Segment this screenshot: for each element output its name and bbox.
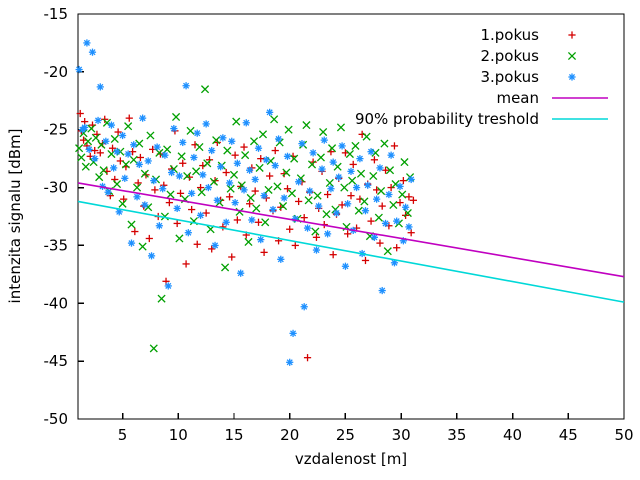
y-tick-label: -40 xyxy=(44,294,69,312)
data-point-cross xyxy=(568,52,575,59)
data-point-cross xyxy=(357,170,364,177)
data-point-plus xyxy=(338,201,345,208)
data-point-asterisk xyxy=(388,152,395,159)
data-point-plus xyxy=(376,240,383,247)
data-point-asterisk xyxy=(194,130,201,137)
data-point-asterisk xyxy=(205,184,212,191)
data-point-asterisk xyxy=(148,252,155,259)
data-point-cross xyxy=(265,186,272,193)
data-point-cross xyxy=(96,174,103,181)
data-point-asterisk xyxy=(298,140,305,147)
data-point-asterisk xyxy=(176,172,183,179)
data-point-cross xyxy=(201,86,208,93)
data-point-cross xyxy=(363,133,370,140)
data-point-plus xyxy=(400,177,407,184)
data-point-plus xyxy=(182,260,189,267)
data-point-asterisk xyxy=(226,179,233,186)
data-point-asterisk xyxy=(408,176,415,183)
data-point-cross xyxy=(230,171,237,178)
data-point-asterisk xyxy=(203,120,210,127)
data-point-plus xyxy=(260,249,267,256)
data-point-asterisk xyxy=(306,187,313,194)
data-point-cross xyxy=(136,140,143,147)
data-point-asterisk xyxy=(161,152,168,159)
data-point-cross xyxy=(375,214,382,221)
x-tick-label: 45 xyxy=(559,426,578,444)
data-point-asterisk xyxy=(269,206,276,213)
data-point-asterisk xyxy=(393,218,400,225)
data-point-asterisk xyxy=(367,148,374,155)
data-point-asterisk xyxy=(108,121,115,128)
data-point-asterisk xyxy=(159,185,166,192)
data-point-asterisk xyxy=(364,182,371,189)
data-point-cross xyxy=(82,163,89,170)
data-point-cross xyxy=(256,164,263,171)
data-point-asterisk xyxy=(335,174,342,181)
y-tick-label: -50 xyxy=(44,410,69,428)
data-point-asterisk xyxy=(248,216,255,223)
data-point-asterisk xyxy=(327,185,334,192)
data-point-cross xyxy=(346,150,353,157)
data-point-cross xyxy=(323,211,330,218)
data-point-asterisk xyxy=(83,39,90,46)
data-point-asterisk xyxy=(185,229,192,236)
data-point-asterisk xyxy=(356,155,363,162)
data-point-asterisk xyxy=(223,219,230,226)
data-point-cross xyxy=(141,170,148,177)
data-point-plus xyxy=(286,226,293,233)
data-point-cross xyxy=(111,135,118,142)
data-point-plus xyxy=(292,242,299,249)
data-point-asterisk xyxy=(281,194,288,201)
data-point-asterisk xyxy=(97,83,104,90)
data-point-asterisk xyxy=(234,160,241,167)
data-point-cross xyxy=(312,228,319,235)
data-point-asterisk xyxy=(304,224,311,231)
data-point-plus xyxy=(179,160,186,167)
data-point-cross xyxy=(210,178,217,185)
data-point-asterisk xyxy=(125,150,132,157)
data-point-asterisk xyxy=(344,200,351,207)
data-point-cross xyxy=(196,143,203,150)
data-point-cross xyxy=(326,179,333,186)
data-point-cross xyxy=(178,153,185,160)
data-point-plus xyxy=(410,197,417,204)
data-point-asterisk xyxy=(568,73,575,80)
data-point-plus xyxy=(568,31,575,38)
data-point-cross xyxy=(355,207,362,214)
data-point-plus xyxy=(252,187,259,194)
data-point-asterisk xyxy=(330,159,337,166)
data-point-cross xyxy=(88,125,95,132)
data-point-cross xyxy=(384,248,391,255)
data-point-plus xyxy=(257,155,264,162)
data-point-asterisk xyxy=(257,236,264,243)
data-point-asterisk xyxy=(237,270,244,277)
data-point-plus xyxy=(344,230,351,237)
data-point-plus xyxy=(115,128,122,135)
data-point-asterisk xyxy=(170,125,177,132)
data-point-asterisk xyxy=(353,184,360,191)
y-tick-label: -35 xyxy=(44,236,69,254)
data-point-asterisk xyxy=(275,135,282,142)
data-point-cross xyxy=(352,142,359,149)
data-point-plus xyxy=(223,169,230,176)
data-point-cross xyxy=(262,219,269,226)
data-point-asterisk xyxy=(219,134,226,141)
data-point-asterisk xyxy=(81,124,88,131)
data-point-asterisk xyxy=(338,142,345,149)
data-point-asterisk xyxy=(255,145,262,152)
data-point-plus xyxy=(347,192,354,199)
data-point-cross xyxy=(253,205,260,212)
data-point-cross xyxy=(133,184,140,191)
data-point-cross xyxy=(349,177,356,184)
data-point-asterisk xyxy=(315,202,322,209)
x-tick-label: 40 xyxy=(503,426,522,444)
data-point-asterisk xyxy=(243,119,250,126)
data-point-cross xyxy=(247,194,254,201)
data-point-asterisk xyxy=(128,240,135,247)
data-point-cross xyxy=(328,145,335,152)
data-point-cross xyxy=(390,201,397,208)
data-point-asterisk xyxy=(310,149,317,156)
data-point-plus xyxy=(188,206,195,213)
data-point-asterisk xyxy=(94,117,101,124)
data-point-asterisk xyxy=(139,115,146,122)
data-point-plus xyxy=(367,218,374,225)
data-point-plus xyxy=(393,244,400,251)
x-axis-ticks: 5101520253035404550 xyxy=(118,413,634,444)
data-point-plus xyxy=(240,143,247,150)
data-point-plus xyxy=(266,172,273,179)
data-point-cross xyxy=(92,134,99,141)
data-point-asterisk xyxy=(182,82,189,89)
data-point-asterisk xyxy=(289,330,296,337)
y-tick-label: -15 xyxy=(44,5,69,23)
y-tick-label: -30 xyxy=(44,179,69,197)
trend-lines-group xyxy=(78,183,624,302)
data-point-asterisk xyxy=(246,167,253,174)
data-point-asterisk xyxy=(313,246,320,253)
x-tick-label: 50 xyxy=(614,426,633,444)
data-point-asterisk xyxy=(263,156,270,163)
data-point-asterisk xyxy=(168,169,175,176)
x-tick-label: 20 xyxy=(280,426,299,444)
data-point-cross xyxy=(377,187,384,194)
data-point-asterisk xyxy=(376,164,383,171)
data-point-asterisk xyxy=(197,212,204,219)
data-point-cross xyxy=(271,116,278,123)
data-point-asterisk xyxy=(156,222,163,229)
data-point-cross xyxy=(337,124,344,131)
data-point-asterisk xyxy=(284,153,291,160)
data-point-cross xyxy=(84,138,91,145)
data-point-asterisk xyxy=(347,168,354,175)
data-point-cross xyxy=(187,127,194,134)
data-point-cross xyxy=(119,200,126,207)
data-point-plus xyxy=(330,251,337,258)
data-point-cross xyxy=(100,167,107,174)
data-point-asterisk xyxy=(119,132,126,139)
data-point-asterisk xyxy=(208,147,215,154)
data-point-cross xyxy=(288,190,295,197)
series-1.pokus xyxy=(77,110,417,361)
data-point-cross xyxy=(227,185,234,192)
data-point-asterisk xyxy=(266,109,273,116)
data-point-asterisk xyxy=(113,148,120,155)
legend-label: 90% probability treshold xyxy=(355,110,539,128)
data-point-cross xyxy=(314,192,321,199)
x-tick-label: 25 xyxy=(336,426,355,444)
data-point-cross xyxy=(98,141,105,148)
legend-label: 2.pokus xyxy=(480,47,539,65)
data-point-cross xyxy=(370,172,377,179)
data-point-cross xyxy=(128,221,135,228)
data-point-asterisk xyxy=(240,186,247,193)
data-point-asterisk xyxy=(232,199,239,206)
data-point-cross xyxy=(317,154,324,161)
data-point-plus xyxy=(379,202,386,209)
y-tick-label: -45 xyxy=(44,352,69,370)
data-point-cross xyxy=(224,147,231,154)
data-point-cross xyxy=(242,152,249,159)
data-point-cross xyxy=(221,264,228,271)
data-point-asterisk xyxy=(86,146,93,153)
data-point-cross xyxy=(158,295,165,302)
data-point-cross xyxy=(113,181,120,188)
data-point-plus xyxy=(137,154,144,161)
data-point-asterisk xyxy=(301,303,308,310)
data-point-cross xyxy=(274,183,281,190)
data-point-asterisk xyxy=(145,157,152,164)
data-point-asterisk xyxy=(214,197,221,204)
data-point-cross xyxy=(147,132,154,139)
data-point-asterisk xyxy=(382,220,389,227)
data-point-asterisk xyxy=(150,177,157,184)
data-point-plus xyxy=(166,199,173,206)
x-tick-label: 15 xyxy=(224,426,243,444)
data-point-cross xyxy=(259,131,266,138)
legend: 1.pokus2.pokus3.pokusmean90% probability… xyxy=(355,26,608,128)
data-point-plus xyxy=(232,152,239,159)
data-point-cross xyxy=(130,156,137,163)
data-point-plus xyxy=(301,214,308,221)
data-point-cross xyxy=(401,159,408,166)
data-point-plus xyxy=(362,257,369,264)
chart-canvas: 5101520253035404550 -15-20-25-30-35-40-4… xyxy=(0,0,640,480)
data-point-asterisk xyxy=(362,207,369,214)
x-tick-label: 35 xyxy=(447,426,466,444)
data-point-plus xyxy=(304,354,311,361)
data-point-cross xyxy=(198,189,205,196)
data-point-asterisk xyxy=(121,175,128,182)
x-tick-label: 10 xyxy=(169,426,188,444)
data-point-plus xyxy=(272,147,279,154)
data-point-cross xyxy=(303,121,310,128)
data-point-asterisk xyxy=(89,49,96,56)
data-point-cross xyxy=(176,235,183,242)
x-tick-label: 30 xyxy=(392,426,411,444)
data-point-asterisk xyxy=(379,287,386,294)
y-axis-title: intenzita signalu [dBm] xyxy=(6,129,24,304)
y-tick-label: -20 xyxy=(44,63,69,81)
data-point-asterisk xyxy=(402,204,409,211)
data-point-asterisk xyxy=(141,201,148,208)
data-point-cross xyxy=(305,197,312,204)
data-point-asterisk xyxy=(110,164,117,171)
data-point-plus xyxy=(405,193,412,200)
data-point-asterisk xyxy=(373,196,380,203)
data-point-asterisk xyxy=(179,139,186,146)
data-point-cross xyxy=(361,198,368,205)
data-point-asterisk xyxy=(174,205,181,212)
data-point-cross xyxy=(150,345,157,352)
legend-label: 3.pokus xyxy=(480,68,539,86)
data-point-asterisk xyxy=(76,66,83,73)
data-point-cross xyxy=(139,243,146,250)
data-point-cross xyxy=(399,191,406,198)
data-point-plus xyxy=(177,190,184,197)
data-point-cross xyxy=(245,238,252,245)
data-point-plus xyxy=(226,193,233,200)
data-point-asterisk xyxy=(295,178,302,185)
data-point-asterisk xyxy=(396,183,403,190)
data-point-plus xyxy=(255,219,262,226)
data-point-asterisk xyxy=(321,137,328,144)
data-point-asterisk xyxy=(165,282,172,289)
data-point-cross xyxy=(193,168,200,175)
data-point-plus xyxy=(295,198,302,205)
data-point-cross xyxy=(78,154,85,161)
data-point-plus xyxy=(391,142,398,149)
data-point-cross xyxy=(250,138,257,145)
data-series-group xyxy=(76,39,417,366)
trend-line-90% probability treshold xyxy=(78,201,624,302)
data-point-plus xyxy=(151,186,158,193)
data-point-asterisk xyxy=(286,359,293,366)
data-point-asterisk xyxy=(277,256,284,263)
data-point-plus xyxy=(350,161,357,168)
data-point-plus xyxy=(371,156,378,163)
data-point-cross xyxy=(285,126,292,133)
data-point-asterisk xyxy=(324,230,331,237)
data-point-asterisk xyxy=(217,163,224,170)
data-point-plus xyxy=(194,241,201,248)
data-point-cross xyxy=(172,113,179,120)
legend-label: mean xyxy=(496,89,539,107)
data-point-asterisk xyxy=(333,209,340,216)
data-point-plus xyxy=(324,191,331,198)
legend-label: 1.pokus xyxy=(480,26,539,44)
data-point-cross xyxy=(125,123,132,130)
data-point-plus xyxy=(396,199,403,206)
data-point-asterisk xyxy=(385,191,392,198)
data-point-cross xyxy=(341,184,348,191)
data-point-plus xyxy=(228,253,235,260)
data-point-asterisk xyxy=(252,176,259,183)
data-point-plus xyxy=(388,184,395,191)
data-point-asterisk xyxy=(154,143,161,150)
data-point-asterisk xyxy=(91,155,98,162)
data-point-asterisk xyxy=(190,154,197,161)
data-point-asterisk xyxy=(211,242,218,249)
data-point-asterisk xyxy=(228,138,235,145)
data-point-asterisk xyxy=(199,171,206,178)
data-point-plus xyxy=(126,115,133,122)
data-point-cross xyxy=(381,140,388,147)
data-point-asterisk xyxy=(188,190,195,197)
data-point-plus xyxy=(234,216,241,223)
scatter-plot: 5101520253035404550 -15-20-25-30-35-40-4… xyxy=(0,0,640,480)
data-point-asterisk xyxy=(272,162,279,169)
data-point-cross xyxy=(233,118,240,125)
data-point-asterisk xyxy=(405,223,412,230)
y-tick-label: -25 xyxy=(44,121,69,139)
data-point-asterisk xyxy=(260,192,267,199)
data-point-plus xyxy=(131,228,138,235)
data-point-asterisk xyxy=(102,138,109,145)
data-point-plus xyxy=(146,235,153,242)
x-axis-title: vzdalenost [m] xyxy=(295,450,407,468)
data-point-asterisk xyxy=(342,263,349,270)
data-point-cross xyxy=(320,128,327,135)
data-point-asterisk xyxy=(318,165,325,172)
data-point-cross xyxy=(76,145,83,152)
data-point-asterisk xyxy=(130,141,137,148)
data-point-asterisk xyxy=(136,161,143,168)
data-point-asterisk xyxy=(104,189,111,196)
data-point-cross xyxy=(167,191,174,198)
x-tick-label: 5 xyxy=(118,426,128,444)
